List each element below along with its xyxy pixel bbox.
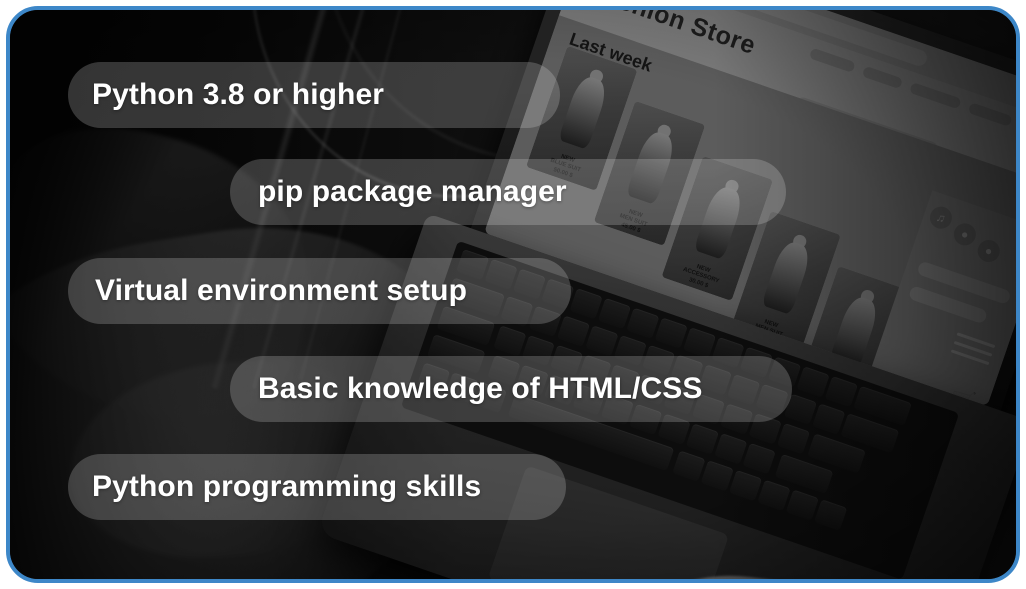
bullet-label: Basic knowledge of HTML/CSS bbox=[258, 372, 702, 406]
bullet-label: Python programming skills bbox=[92, 470, 481, 504]
bullet-item-3[interactable]: Virtual environment setup bbox=[68, 258, 571, 324]
slide-card: Fashion Store Last week bbox=[6, 6, 1020, 583]
bullet-label: Virtual environment setup bbox=[95, 274, 467, 308]
bullet-list: Python 3.8 or higher pip package manager… bbox=[10, 10, 1016, 579]
bullet-item-1[interactable]: Python 3.8 or higher bbox=[68, 62, 560, 128]
bullet-label: pip package manager bbox=[258, 175, 567, 209]
bullet-label: Python 3.8 or higher bbox=[92, 78, 384, 112]
bullet-item-2[interactable]: pip package manager bbox=[230, 159, 786, 225]
bullet-item-4[interactable]: Basic knowledge of HTML/CSS bbox=[230, 356, 792, 422]
bullet-item-5[interactable]: Python programming skills bbox=[68, 454, 566, 520]
